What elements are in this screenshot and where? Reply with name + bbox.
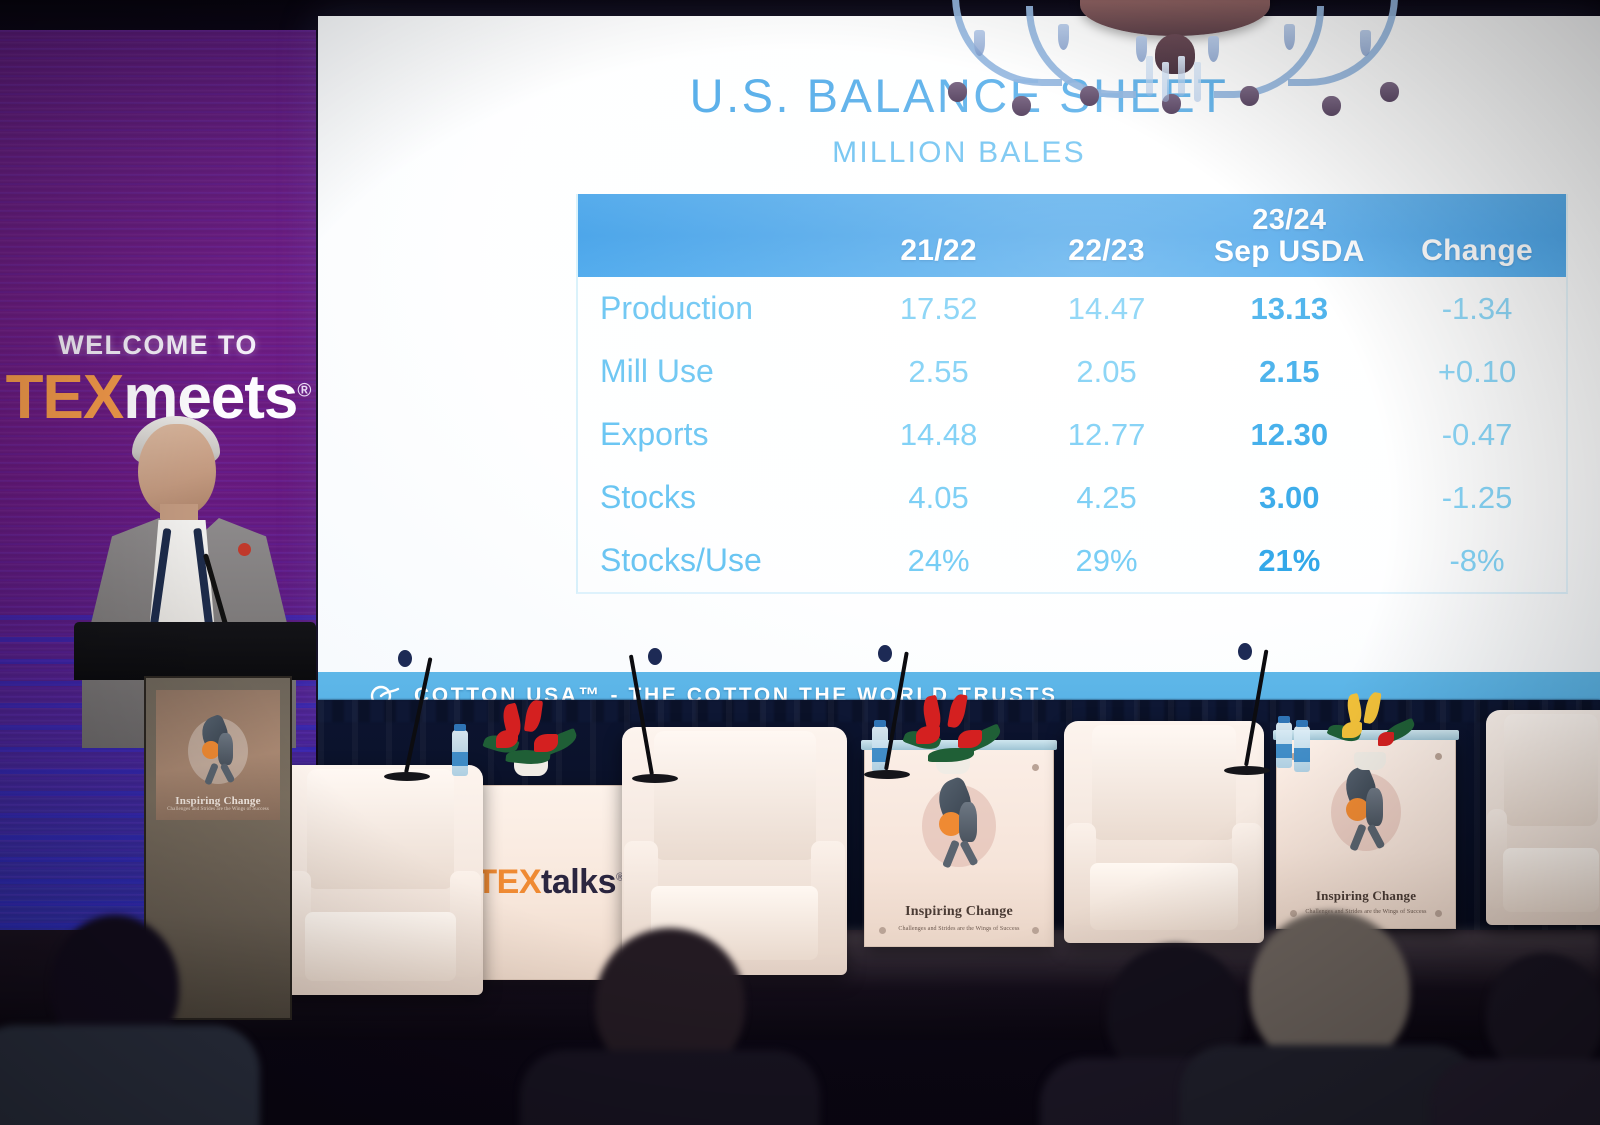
- col-header-change: Change: [1388, 194, 1566, 277]
- floral-arrangement: [478, 700, 588, 778]
- table-body: Production 17.52 14.47 13.13 -1.34 Mill …: [578, 277, 1566, 592]
- textalks-logo: TEXtalks®: [476, 863, 623, 902]
- logo-figure-body: [218, 733, 233, 765]
- slide-content: U.S. BALANCE SHEET MILLION BALES 21/22 2…: [318, 16, 1600, 716]
- bottle-cap: [874, 720, 886, 727]
- cell-exports-2223: 12.77: [1023, 403, 1191, 466]
- flower-bloom: [524, 699, 543, 733]
- texmeets-logo-registered: ®: [297, 380, 310, 401]
- cell-production-change: -1.34: [1388, 277, 1566, 340]
- cell-mill-use-2324: 2.15: [1191, 340, 1389, 403]
- podium-body: Inspiring Change Challenges and Strides …: [144, 676, 292, 1020]
- logo-figure-body: [959, 802, 977, 842]
- flower-bloom: [1345, 693, 1364, 725]
- podium-logo-name: Inspiring Change: [175, 795, 260, 807]
- cell-stocks-use-2324: 21%: [1191, 529, 1389, 592]
- chandelier-bell: [1322, 96, 1341, 116]
- flower-vase: [1354, 752, 1386, 770]
- cell-stocks-use-change: -8%: [1388, 529, 1566, 592]
- cell-stocks-change: -1.25: [1388, 466, 1566, 529]
- chandelier-crystal: [1178, 56, 1185, 96]
- chair-back: [1092, 725, 1236, 840]
- floral-arrangement: [900, 694, 1010, 776]
- col-header-2324-line1: 23/24: [1191, 205, 1389, 236]
- chair-seat: [305, 912, 457, 981]
- textalks-logo-talks: talks: [541, 863, 616, 901]
- flower-bloom: [1363, 691, 1381, 725]
- side-table-logo-name: Inspiring Change: [865, 904, 1053, 920]
- bottle-cap: [1296, 720, 1308, 727]
- panel-chair: [1064, 721, 1264, 943]
- balance-sheet-table: 21/22 22/23 23/24 Sep USDA Change Produc…: [576, 194, 1568, 594]
- inspiring-change-logo: [180, 709, 256, 793]
- cell-stocks-2122: 4.05: [855, 466, 1023, 529]
- table-row: Stocks/Use 24% 29% 21% -8%: [578, 529, 1566, 592]
- podium-logo-panel: Inspiring Change Challenges and Strides …: [156, 690, 280, 820]
- textalks-logo-tex: TEX: [476, 863, 541, 901]
- row-label-production: Production: [578, 277, 855, 340]
- chandelier-stem: [1155, 34, 1195, 74]
- row-label-mill-use: Mill Use: [578, 340, 855, 403]
- table-header-row: 21/22 22/23 23/24 Sep USDA Change: [578, 194, 1566, 277]
- flower-bloom: [1378, 732, 1394, 746]
- cell-mill-use-change: +0.10: [1388, 340, 1566, 403]
- welcome-label: WELCOME TO: [0, 330, 316, 361]
- chandelier: [940, 0, 1410, 120]
- cell-production-2122: 17.52: [855, 277, 1023, 340]
- chair-back: [1504, 714, 1598, 826]
- chair-seat: [651, 886, 818, 960]
- table-row: Exports 14.48 12.77 12.30 -0.47: [578, 403, 1566, 466]
- chandelier-bell: [1080, 86, 1099, 106]
- textalks-riser: TEXtalks®: [470, 785, 630, 980]
- col-header-2223: 22/23: [1023, 194, 1191, 277]
- col-header-2324-sep-usda: 23/24 Sep USDA: [1191, 194, 1389, 277]
- cell-stocks-use-2122: 24%: [855, 529, 1023, 592]
- chandelier-bell: [948, 82, 967, 102]
- chair-seat: [1503, 848, 1599, 913]
- col-header-2122: 21/22: [855, 194, 1023, 277]
- panel-chair: [1486, 710, 1600, 925]
- projection-screen: U.S. BALANCE SHEET MILLION BALES 21/22 2…: [318, 16, 1600, 716]
- chandelier-crystal: [1194, 62, 1201, 102]
- cell-mill-use-2122: 2.55: [855, 340, 1023, 403]
- microphone-head: [1238, 643, 1252, 660]
- cell-stocks-use-2223: 29%: [1023, 529, 1191, 592]
- chandelier-drop: [1284, 24, 1295, 50]
- podium-logo-tagline: Challenges and Strides are the Wings of …: [167, 807, 269, 812]
- table-row: Stocks 4.05 4.25 3.00 -1.25: [578, 466, 1566, 529]
- side-table-logo-tagline: Challenges and Strides are the Wings of …: [865, 926, 1053, 932]
- table-row: Mill Use 2.55 2.05 2.15 +0.10: [578, 340, 1566, 403]
- floral-arrangement: [1320, 692, 1424, 772]
- podium-and-speaker: Inspiring Change Challenges and Strides …: [60, 400, 320, 1020]
- chandelier-crystal: [1162, 62, 1169, 102]
- cell-stocks-2223: 4.25: [1023, 466, 1191, 529]
- cell-production-2223: 14.47: [1023, 277, 1191, 340]
- water-bottle: [452, 730, 468, 776]
- chandelier-crystal: [1146, 56, 1153, 96]
- chandelier-drop: [1360, 30, 1371, 56]
- flower-bloom: [947, 693, 968, 729]
- conference-photo-scene: WELCOME TO TEXmeets® U.S. BALANCE SHEET …: [0, 0, 1600, 1125]
- speaker-head: [138, 424, 216, 516]
- row-label-stocks-use: Stocks/Use: [578, 529, 855, 592]
- microphone-head: [648, 648, 662, 665]
- chandelier-bell: [1380, 82, 1399, 102]
- podium-top: [74, 622, 316, 680]
- chair-back: [307, 769, 455, 889]
- bottle-cap: [454, 724, 466, 731]
- cell-mill-use-2223: 2.05: [1023, 340, 1191, 403]
- bottle-cap: [1278, 716, 1290, 723]
- row-label-exports: Exports: [578, 403, 855, 466]
- inspiring-change-logo: [1322, 762, 1410, 862]
- table-row: Production 17.52 14.47 13.13 -1.34: [578, 277, 1566, 340]
- side-table-logo-name: Inspiring Change: [1277, 888, 1455, 904]
- podium-microphone-head: [238, 543, 251, 556]
- water-bottle: [1276, 722, 1292, 768]
- panel-chair: [622, 727, 847, 975]
- microphone-head: [878, 645, 892, 662]
- chandelier-bell: [1012, 96, 1031, 116]
- col-header-item: [578, 194, 855, 277]
- chandelier-drop: [1058, 24, 1069, 50]
- bottle-label: [452, 752, 468, 766]
- bottle-label: [1294, 748, 1310, 762]
- bottle-label: [1276, 744, 1292, 758]
- logo-figure-body: [1366, 788, 1383, 826]
- side-table-logo-tagline: Challenges and Strides are the Wings of …: [1277, 909, 1455, 915]
- microphone-base: [1224, 766, 1270, 775]
- microphone-base: [632, 774, 678, 783]
- cell-exports-change: -0.47: [1388, 403, 1566, 466]
- col-header-2324-line2: Sep USDA: [1191, 236, 1389, 268]
- chair-seat: [1090, 863, 1238, 930]
- panel-screw: [1435, 753, 1442, 760]
- microphone-head: [398, 650, 412, 667]
- chandelier-bell: [1240, 86, 1259, 106]
- chandelier-drop: [1208, 36, 1219, 62]
- chandelier-drop: [974, 30, 985, 56]
- cell-exports-2324: 12.30: [1191, 403, 1389, 466]
- cell-exports-2122: 14.48: [855, 403, 1023, 466]
- slide-subtitle: MILLION BALES: [318, 136, 1600, 170]
- panel-screw: [1032, 764, 1039, 771]
- inspiring-change-logo: [913, 774, 1005, 878]
- row-label-stocks: Stocks: [578, 466, 855, 529]
- cell-stocks-2324: 3.00: [1191, 466, 1389, 529]
- cell-production-2324: 13.13: [1191, 277, 1389, 340]
- water-bottle: [1294, 726, 1310, 772]
- microphone-base: [384, 772, 430, 781]
- chair-back: [654, 731, 816, 860]
